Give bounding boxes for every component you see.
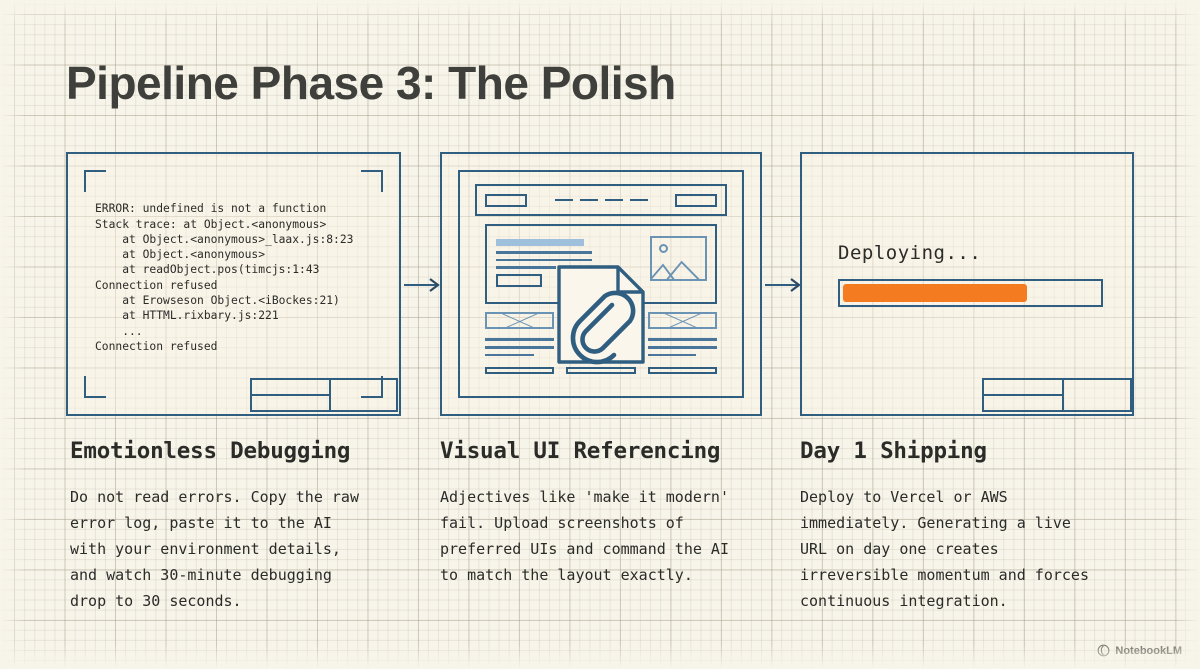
caption-body: Adjectives like 'make it modern' fail. U… [440,484,780,588]
panel-emotionless-debugging: ERROR: undefined is not a function Stack… [66,152,401,416]
deploy-progress-fill [843,284,1027,302]
mini-table-left-column [252,380,331,410]
wireframe-nav-link [580,199,598,201]
wireframe-heading-bar [496,239,584,246]
caption-emotionless-debugging: Emotionless Debugging Do not read errors… [70,438,410,614]
wireframe-card [648,312,717,374]
deploy-progress-bar [838,279,1103,307]
wireframe-card-button [566,367,635,374]
image-crossbox-placeholder [485,312,554,329]
caption-heading: Visual UI Referencing [440,438,780,464]
image-placeholder-icon [650,236,707,281]
wireframe-text-bar [496,259,592,262]
corner-bracket-bottom-left [84,376,106,398]
panel-visual-ui-referencing [440,152,762,416]
caption-body: Deploy to Vercel or AWS immediately. Gen… [800,484,1145,614]
panel-day-1-shipping: Deploying... [800,152,1134,416]
mountain-icon [650,258,703,280]
wireframe-card-text [485,338,554,361]
corner-bracket-top-left [84,170,106,192]
error-log-text: ERROR: undefined is not a function Stack… [95,201,353,354]
wireframe-card-button [485,367,554,374]
mini-table-row [984,380,1062,396]
mini-table-right-column [331,380,396,410]
caption-heading: Emotionless Debugging [70,438,410,464]
wireframe-card-text [648,338,717,361]
mini-table-left-column [984,380,1064,410]
corner-bracket-top-right [361,170,383,192]
wireframe-nav-link [630,199,648,201]
sun-circle-icon [659,244,668,253]
wireframe-hero-button [496,274,542,287]
image-crossbox-placeholder [648,312,717,329]
wireframe-nav-link [605,199,623,201]
wireframe-card-button [648,367,717,374]
notebooklm-logo-icon [1097,644,1110,657]
caption-body: Do not read errors. Copy the raw error l… [70,484,410,614]
wireframe-nav-links [555,199,648,201]
wireframe-card [485,312,554,374]
wireframe-nav-logo [485,194,527,207]
caption-heading: Day 1 Shipping [800,438,1145,464]
wireframe-text-bar [496,266,556,269]
mini-table-widget [250,378,398,412]
mini-table-row [252,396,329,410]
footer-brand: NotebookLM [1097,644,1182,657]
mini-table-right-column [1064,380,1130,410]
wireframe-text-bar [496,251,592,254]
flow-arrow-1 [404,278,444,292]
mini-table-row [984,396,1062,410]
page-title: Pipeline Phase 3: The Polish [66,56,676,110]
footer-brand-label: NotebookLM [1115,645,1182,657]
flow-arrow-2 [765,278,805,292]
paperclip-document-icon [556,264,646,365]
wireframe-nav-link [555,199,573,201]
caption-visual-ui-referencing: Visual UI Referencing Adjectives like 'm… [440,438,780,588]
mini-table-row [252,380,329,396]
wireframe-frame [458,170,744,398]
deploy-status-label: Deploying... [838,242,981,264]
mini-table-widget [982,378,1132,412]
caption-day-1-shipping: Day 1 Shipping Deploy to Vercel or AWS i… [800,438,1145,614]
wireframe-nav-cta [675,194,717,207]
wireframe-navbar [475,184,727,216]
